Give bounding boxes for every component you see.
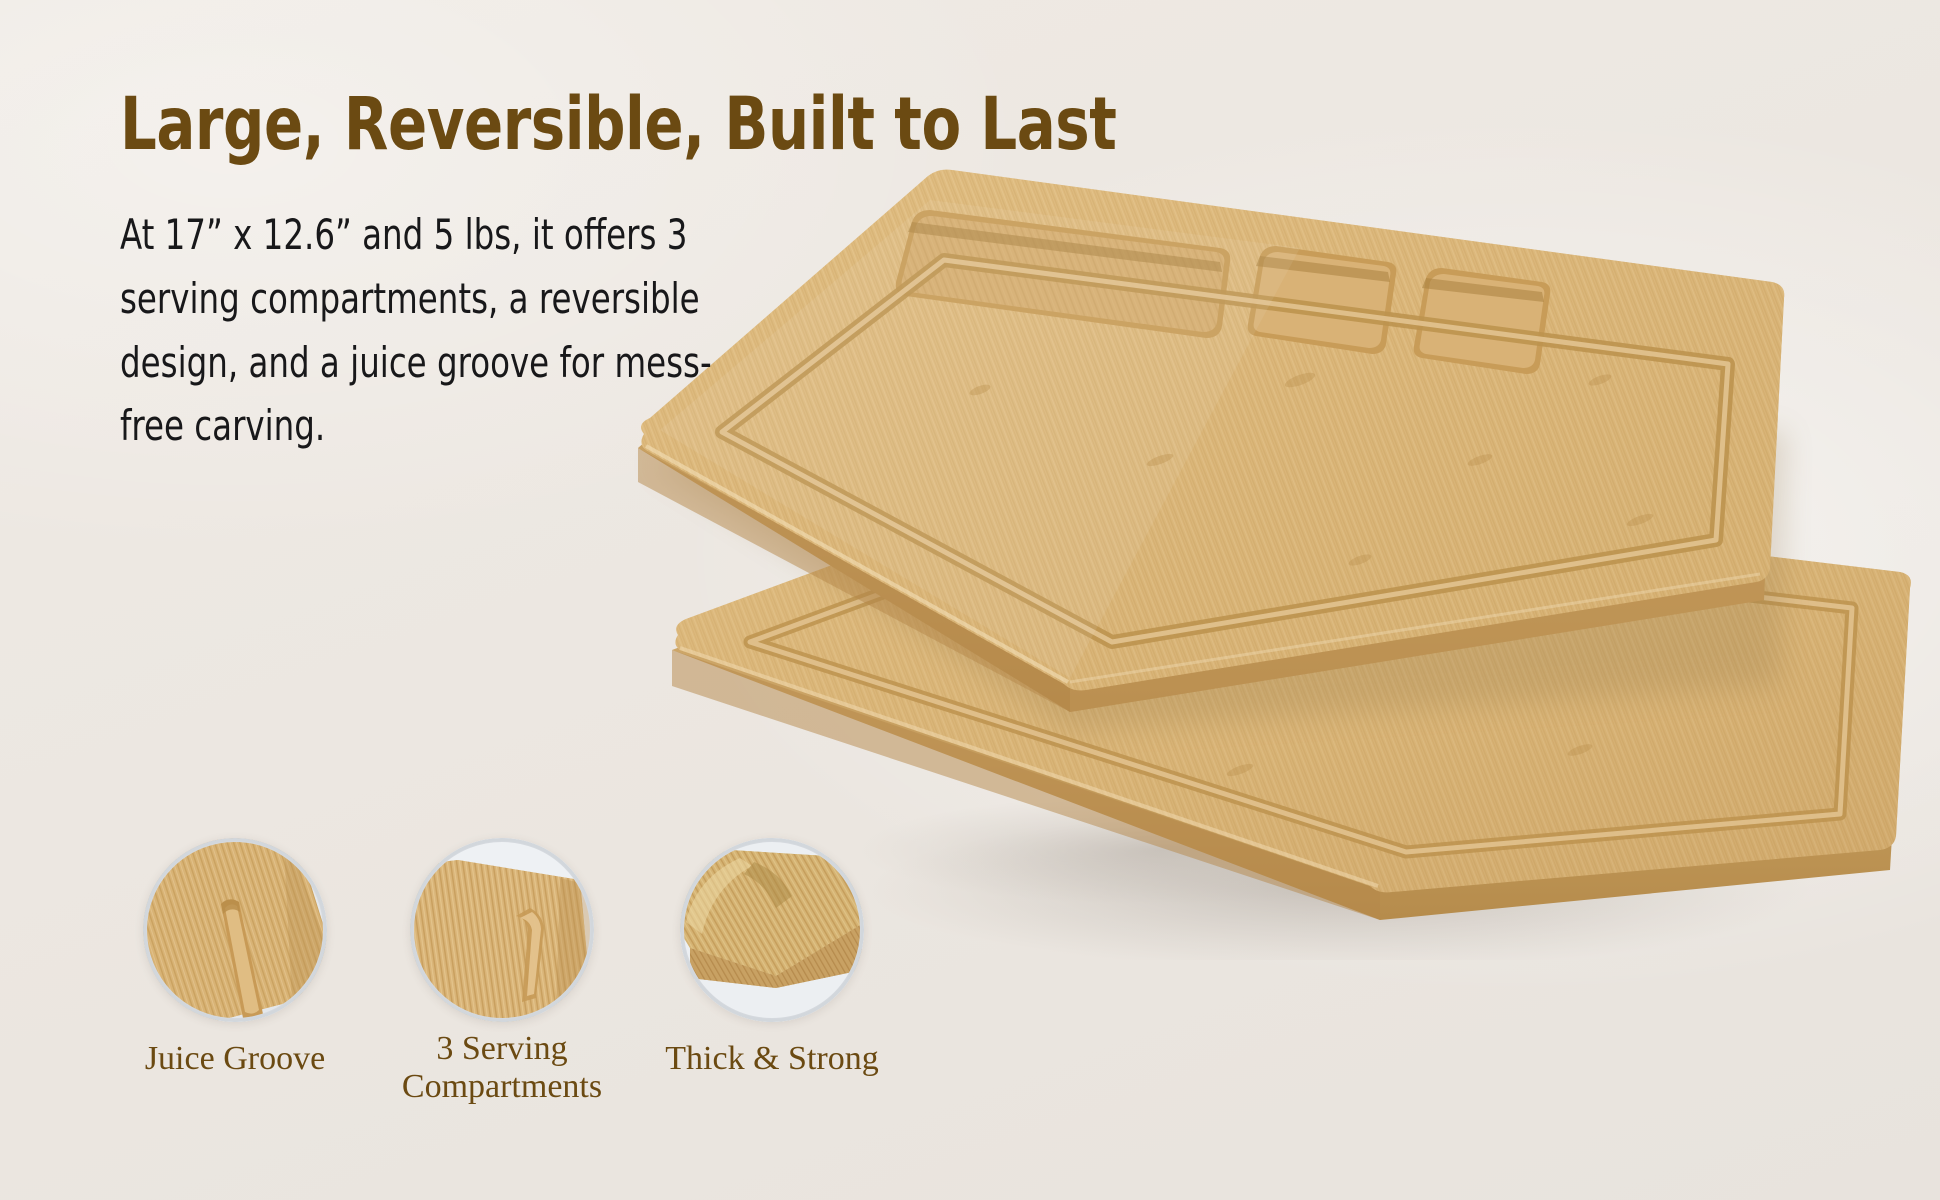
feature-label-line-2: Compartments <box>402 1068 602 1106</box>
feature-label-juice-groove: Juice Groove <box>145 1040 325 1078</box>
page-title: Large, Reversible, Built to Last <box>120 88 877 161</box>
feature-label-line-1: 3 Serving <box>402 1030 602 1068</box>
product-description: At 17” x 12.6” and 5 lbs, it offers 3 se… <box>120 203 722 458</box>
copy-column: Large, Reversible, Built to Last At 17” … <box>120 88 980 458</box>
feature-label-thick-strong: Thick & Strong <box>665 1040 878 1078</box>
feature-serving-compartments: 3 Serving Compartments <box>376 838 628 1106</box>
feature-label-serving-compartments: 3 Serving Compartments <box>402 1030 602 1106</box>
feature-thick-strong: Thick & Strong <box>646 838 898 1078</box>
promo-banner: Large, Reversible, Built to Last At 17” … <box>0 0 1940 1200</box>
wood-corner-compartment-thumbnail <box>410 838 594 1022</box>
feature-juice-groove: Juice Groove <box>112 838 358 1078</box>
feature-callouts: Juice Groove <box>112 838 898 1106</box>
wood-edge-thickness-thumbnail <box>680 838 864 1022</box>
wood-groove-closeup-thumbnail <box>143 838 327 1022</box>
